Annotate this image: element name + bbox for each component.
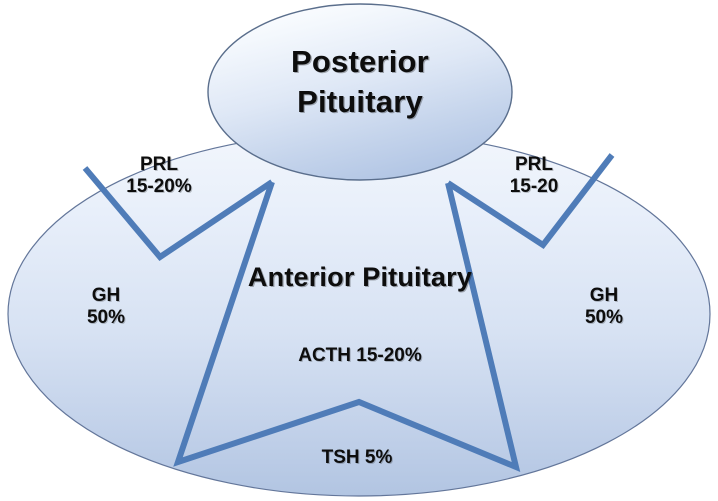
posterior-pituitary-ellipse — [208, 4, 512, 180]
pituitary-diagram: Posterior Pituitary Anterior Pituitary P… — [0, 0, 718, 501]
anterior-pituitary-ellipse — [8, 132, 710, 496]
diagram-canvas — [0, 0, 718, 501]
